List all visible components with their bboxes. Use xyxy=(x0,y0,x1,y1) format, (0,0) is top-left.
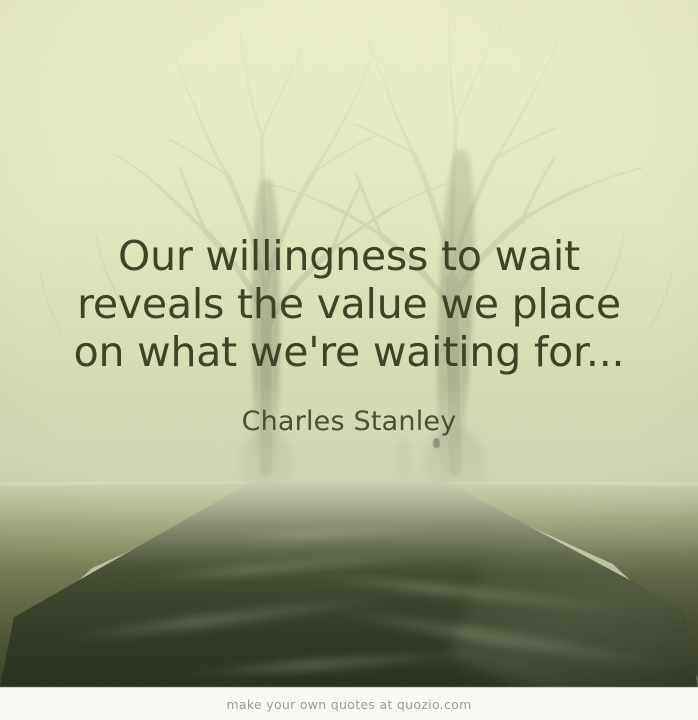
road-streak xyxy=(180,648,480,681)
footer-bar: make your own quotes at quozio.com xyxy=(0,687,698,720)
quote-text: Our willingness to wait reveals the valu… xyxy=(0,232,698,376)
quote-text-block: Our willingness to wait reveals the valu… xyxy=(0,232,698,438)
ground-area xyxy=(0,482,698,687)
footer-attribution-link[interactable]: make your own quotes at quozio.com xyxy=(226,697,471,712)
quote-line-3: on what we're waiting for... xyxy=(0,328,698,376)
quote-author: Charles Stanley xyxy=(0,406,698,438)
bird-silhouette xyxy=(433,438,440,448)
road-streak xyxy=(210,524,440,545)
quote-line-2: reveals the value we place xyxy=(0,280,698,328)
road-streak xyxy=(60,592,389,645)
quote-line-1: Our willingness to wait xyxy=(0,232,698,280)
quote-image-card: Our willingness to wait reveals the valu… xyxy=(0,0,698,720)
background-photo: Our willingness to wait reveals the valu… xyxy=(0,0,698,687)
